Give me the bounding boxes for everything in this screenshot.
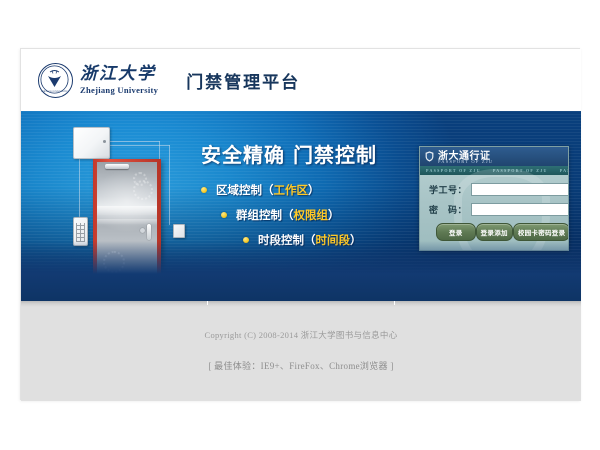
gear-icon (103, 251, 125, 273)
password-row: 密 码： (429, 203, 559, 216)
list-item: 群组控制（权限组） (221, 207, 416, 223)
svg-text:ZHEJIANG UNIVERSITY: ZHEJIANG UNIVERSITY (41, 90, 68, 93)
feature-text: 时段控制（ (258, 232, 316, 248)
band-text: PASSPORT OF ZJU (487, 168, 554, 173)
door-highlight-band (97, 206, 157, 215)
feature-highlight: 权限组 (294, 207, 329, 223)
band-text: PASSPORT OF ZJU (420, 168, 487, 173)
door-panel (97, 162, 157, 285)
logo-english-name: Zhejiang University (80, 86, 158, 95)
door-knob (140, 228, 145, 233)
bullet-dot-icon (221, 212, 227, 218)
wire-segment (108, 141, 160, 142)
browser-support-text: [ 最佳体验：IE9+、FireFox、Chrome浏览器 ] (208, 359, 393, 372)
login-decorative-band: PASSPORT OF ZJU PASSPORT OF ZJU PASSPORT… (420, 166, 568, 175)
shield-icon (425, 151, 434, 162)
slogan-headline: 安全精确 门禁控制 (201, 139, 416, 168)
username-row: 学工号： (429, 183, 559, 196)
login-form: 学工号： 密 码： 登录 登录添加 校园卡密码登录 (420, 175, 568, 241)
password-input[interactable] (471, 203, 569, 216)
bullet-dot-icon (201, 187, 207, 193)
screen-root: ZHEJIANG UNIVERSITY 浙江大学 Zhejiang Univer… (0, 0, 600, 450)
login-title-en: PASSPORT OF ZJU (438, 159, 493, 164)
username-label: 学工号： (429, 183, 467, 196)
door-closer-arm (105, 164, 129, 169)
site-footer: Copyright (C) 2008-2014 浙江大学图书与信息中心 [ 最佳… (21, 307, 581, 401)
gear-icon (133, 172, 147, 186)
login-panel: 浙大通行证 PASSPORT OF ZJU PASSPORT OF ZJU PA… (419, 146, 569, 251)
banner-slogan: 安全精确 门禁控制 区域控制（工作区） 群组控制（权限组） 时段控制（时间段） (201, 139, 416, 257)
door-handle (147, 224, 151, 240)
floor-platform (57, 285, 193, 291)
login-panel-header: 浙大通行证 PASSPORT OF ZJU (420, 147, 568, 166)
username-input[interactable] (471, 183, 569, 196)
password-label: 密 码： (429, 203, 467, 216)
band-text: PASSPORT OF ZJU (554, 168, 568, 173)
zju-seal-icon: ZHEJIANG UNIVERSITY (38, 63, 73, 98)
wire-segment (79, 157, 80, 217)
page-card: ZHEJIANG UNIVERSITY 浙江大学 Zhejiang Univer… (20, 48, 580, 400)
campus-card-login-button[interactable]: 校园卡密码登录 (513, 223, 569, 241)
login-button[interactable]: 登录 (436, 223, 476, 241)
card-reader-icon (173, 224, 185, 238)
feature-text: 区域控制（ (216, 182, 274, 198)
feature-tail: ） (328, 207, 340, 223)
slogan-feature-list: 区域控制（工作区） 群组控制（权限组） 时段控制（时间段） (201, 182, 416, 248)
feature-tail: ） (350, 232, 362, 248)
wire-segment (169, 145, 170, 225)
door-frame (93, 159, 161, 285)
access-controller-box (73, 127, 110, 159)
bullet-dot-icon (243, 237, 249, 243)
login-add-button[interactable]: 登录添加 (476, 223, 513, 241)
hero-banner: 安全精确 门禁控制 区域控制（工作区） 群组控制（权限组） 时段控制（时间段） (21, 111, 581, 301)
wire-segment (108, 145, 170, 146)
door-illustration (51, 119, 221, 299)
feature-tail: ） (308, 182, 320, 198)
site-logo[interactable]: ZHEJIANG UNIVERSITY 浙江大学 Zhejiang Univer… (38, 63, 158, 98)
login-button-row: 登录 登录添加 校园卡密码登录 (429, 223, 559, 241)
list-item: 区域控制（工作区） (201, 182, 416, 198)
feature-highlight: 工作区 (274, 182, 309, 198)
logo-chinese-name: 浙江大学 (80, 66, 158, 83)
list-item: 时段控制（时间段） (243, 232, 416, 248)
feature-text: 群组控制（ (236, 207, 294, 223)
site-header: ZHEJIANG UNIVERSITY 浙江大学 Zhejiang Univer… (21, 49, 581, 111)
page-title: 门禁管理平台 (186, 68, 300, 93)
feature-highlight: 时间段 (316, 232, 351, 248)
copyright-text: Copyright (C) 2008-2014 浙江大学图书与信息中心 (204, 329, 397, 341)
keypad-reader-icon (73, 217, 88, 246)
